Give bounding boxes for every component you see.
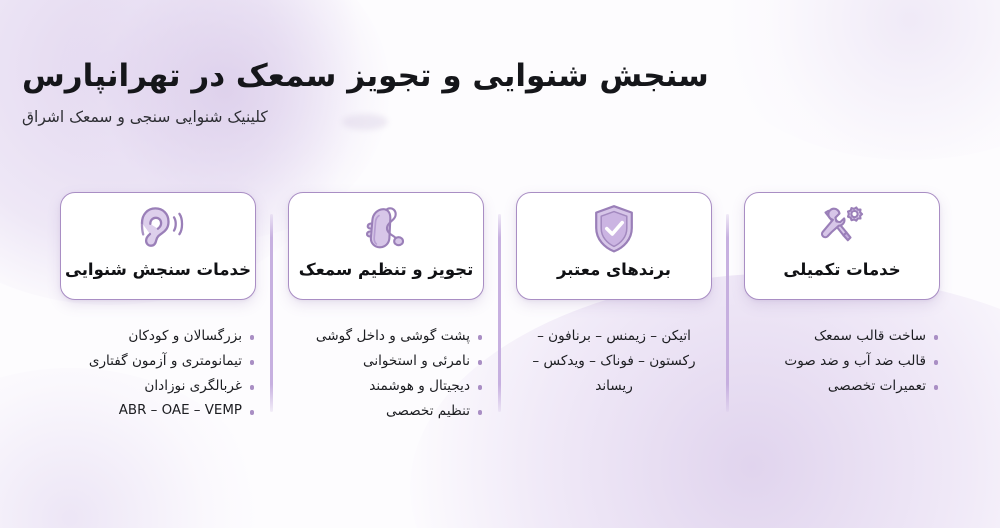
service-list-complementary-services: ساخت قالب سمعک قالب ضد آب و ضد صوت تعمیر… [744, 324, 940, 399]
service-column-trusted-brands: برندهای معتبر اتیکن – زیمنس – برنافون – … [516, 192, 712, 399]
list-item: ساخت قالب سمعک [744, 324, 940, 349]
list-item: غربالگری نوزادان [60, 374, 256, 399]
service-card-title: تجویز و تنظیم سمعک [299, 260, 474, 280]
service-list-hearing-assessment: بزرگسالان و کودکان تیمانومتری و آزمون گف… [60, 324, 256, 424]
page-title: سنجش شنوایی و تجویز سمعک در تهرانپارس [22, 56, 1000, 98]
watermark-smudge [342, 114, 388, 130]
service-column-hearing-assessment: خدمات سنجش شنوایی بزرگسالان و کودکان تیم… [60, 192, 256, 424]
service-card-title: برندهای معتبر [557, 260, 671, 280]
poster-canvas: سنجش شنوایی و تجویز سمعک در تهرانپارس کل… [0, 0, 1000, 528]
shield-check-icon [591, 203, 637, 255]
service-card-complementary-services[interactable]: خدمات تکمیلی [744, 192, 940, 300]
list-item: قالب ضد آب و ضد صوت [744, 349, 940, 374]
service-column-hearing-aid-fitting: تجویز و تنظیم سمعک پشت گوشی و داخل گوشی … [288, 192, 484, 425]
list-item: تعمیرات تخصصی [744, 374, 940, 399]
service-card-title: خدمات تکمیلی [783, 260, 900, 280]
poster-header: سنجش شنوایی و تجویز سمعک در تهرانپارس کل… [0, 56, 1000, 126]
list-item: بزرگسالان و کودکان [60, 324, 256, 349]
list-item: تیمانومتری و آزمون گفتاری [60, 349, 256, 374]
list-item: تنظیم تخصصی [288, 399, 484, 424]
service-card-title: خدمات سنجش شنوایی [65, 260, 251, 280]
list-item: دیجیتال و هوشمند [288, 374, 484, 399]
ear-sound-icon [129, 203, 187, 255]
list-item: پشت گوشی و داخل گوشی [288, 324, 484, 349]
hearing-aid-icon [359, 203, 413, 255]
service-card-hearing-aid-fitting[interactable]: تجویز و تنظیم سمعک [288, 192, 484, 300]
list-item: ABR – OAE – VEMP [60, 399, 256, 424]
list-item: نامرئی و استخوانی [288, 349, 484, 374]
service-card-trusted-brands[interactable]: برندهای معتبر [516, 192, 712, 300]
service-brands-text: اتیکن – زیمنس – برنافون – رکستون – فوناک… [516, 324, 712, 399]
page-subtitle: کلینیک شنوایی سنجی و سمعک اشراق [22, 108, 1000, 126]
service-list-hearing-aid-fitting: پشت گوشی و داخل گوشی نامرئی و استخوانی د… [288, 324, 484, 425]
service-column-complementary-services: خدمات تکمیلی ساخت قالب سمعک قالب ضد آب و… [744, 192, 940, 399]
tools-icon [816, 203, 868, 255]
service-card-hearing-assessment[interactable]: خدمات سنجش شنوایی [60, 192, 256, 300]
service-card-row: خدمات تکمیلی ساخت قالب سمعک قالب ضد آب و… [0, 192, 1000, 422]
